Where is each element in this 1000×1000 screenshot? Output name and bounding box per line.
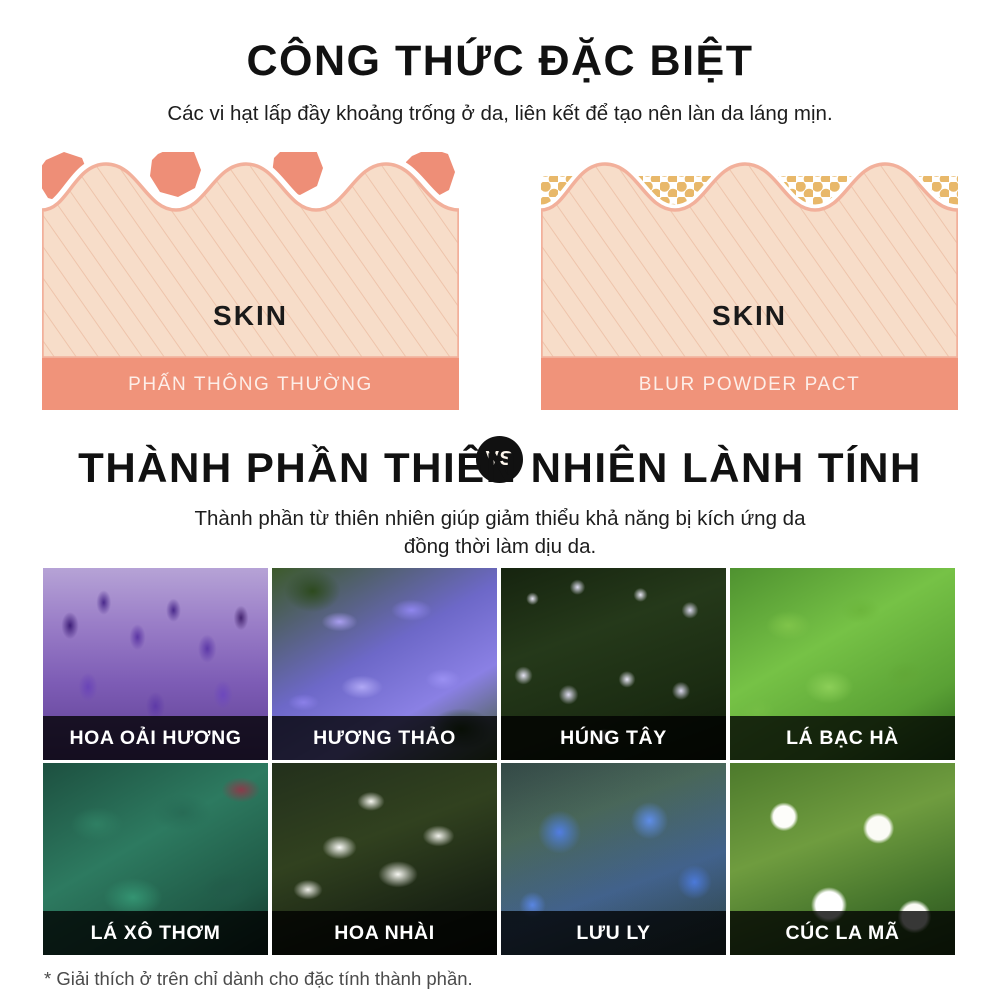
section1-title: CÔNG THỨC ĐẶC BIỆT xyxy=(0,40,1000,83)
ingredient-label: HƯƠNG THẢO xyxy=(272,716,497,760)
blur-powder-illustration xyxy=(541,152,958,410)
product-detail-page: CÔNG THỨC ĐẶC BIỆT Các vi hạt lấp đầy kh… xyxy=(0,0,1000,1000)
section2-subtitle: Thành phần từ thiên nhiên giúp giảm thiể… xyxy=(0,505,1000,560)
ingredient-label: HÚNG TÂY xyxy=(501,716,726,760)
ingredient-label: LƯU LY xyxy=(501,911,726,955)
ingredient-label: HOA OẢI HƯƠNG xyxy=(43,716,268,760)
ingredient-label: HOA NHÀI xyxy=(272,911,497,955)
section1-subtitle: Các vi hạt lấp đầy khoảng trống ở da, li… xyxy=(0,100,1000,128)
ingredient-card-mint[interactable]: LÁ BẠC HÀ xyxy=(728,568,957,760)
ingredient-label: LÁ XÔ THƠM xyxy=(43,911,268,955)
diagram-blur-powder-pact: SKIN BLUR POWDER PACT xyxy=(541,152,958,410)
ingredient-card-jasmine[interactable]: HOA NHÀI xyxy=(270,763,499,955)
blur-powder-footer-bar xyxy=(541,358,958,410)
footnote: * Giải thích ở trên chỉ dành cho đặc tín… xyxy=(44,968,473,990)
ingredient-label: CÚC LA MÃ xyxy=(730,911,955,955)
ordinary-powder-footer-bar xyxy=(42,358,459,410)
ingredient-card-rosemary[interactable]: HƯƠNG THẢO xyxy=(270,568,499,760)
section2-subtitle-line1: Thành phần từ thiên nhiên giúp giảm thiể… xyxy=(0,505,1000,533)
section2-title: THÀNH PHẦN THIÊN NHIÊN LÀNH TÍNH xyxy=(0,447,1000,489)
ingredient-card-thyme[interactable]: HÚNG TÂY xyxy=(499,568,728,760)
ingredient-card-lavender[interactable]: HOA OẢI HƯƠNG xyxy=(41,568,270,760)
ordinary-powder-illustration xyxy=(42,152,459,410)
section2-subtitle-line2: đồng thời làm dịu da. xyxy=(0,533,1000,561)
ingredient-card-borage[interactable]: LƯU LY xyxy=(499,763,728,955)
diagram-ordinary-powder: SKIN PHẤN THÔNG THƯỜNG xyxy=(42,152,459,410)
ingredient-card-chamomile[interactable]: CÚC LA MÃ xyxy=(728,763,957,955)
ingredient-grid: HOA OẢI HƯƠNG HƯƠNG THẢO HÚNG TÂY LÁ BẠC… xyxy=(41,568,959,955)
ingredient-label: LÁ BẠC HÀ xyxy=(730,716,955,760)
ingredient-card-sage[interactable]: LÁ XÔ THƠM xyxy=(41,763,270,955)
skin-comparison-diagram: SKIN PHẤN THÔNG THƯỜNG VS xyxy=(0,152,1000,410)
